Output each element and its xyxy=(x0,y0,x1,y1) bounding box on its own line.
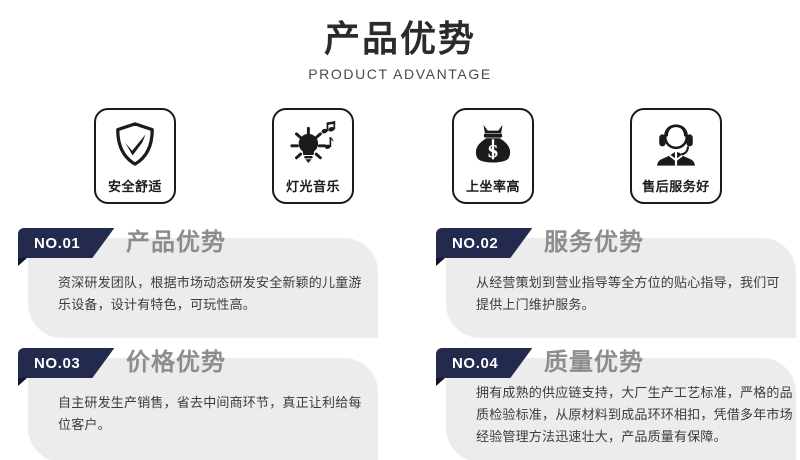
advantage-title: 质量优势 xyxy=(544,348,644,378)
money-bag-icon: S xyxy=(468,119,518,169)
advantage-body: 拥有成熟的供应链支持，大厂生产工艺标准，严格的品质检验标准，从原材料到成品环环相… xyxy=(476,382,796,448)
badge-ribbon-tail xyxy=(436,378,445,386)
badge-ribbon-tail xyxy=(436,258,445,266)
shield-check-icon xyxy=(110,119,160,169)
page-title: 产品优势 xyxy=(0,18,800,60)
advantage-body: 自主研发生产销售，省去中间商环节，真正让利给每位客户。 xyxy=(58,392,368,436)
advantage-body: 从经营策划到营业指导等全方位的贴心指导，我们可提供上门维护服务。 xyxy=(476,272,786,316)
badge-ribbon-tail xyxy=(18,378,27,386)
feature-label: 售后服务好 xyxy=(642,176,710,195)
feature-label: 安全舒适 xyxy=(108,176,162,195)
feature-card-lighting-music[interactable]: 灯光音乐 xyxy=(272,108,354,204)
product-advantage-page: 产品优势 PRODUCT ADVANTAGE 安全舒适 xyxy=(0,0,800,460)
advantage-title: 服务优势 xyxy=(544,228,644,258)
feature-label: 上坐率高 xyxy=(466,176,520,195)
feature-icon-row: 安全舒适 xyxy=(0,108,800,208)
lightbulb-music-icon xyxy=(288,119,338,169)
badge-ribbon-tail xyxy=(18,258,27,266)
page-header: 产品优势 PRODUCT ADVANTAGE xyxy=(0,18,800,84)
headset-support-icon xyxy=(651,119,701,169)
advantage-title: 价格优势 xyxy=(126,348,226,378)
page-subtitle: PRODUCT ADVANTAGE xyxy=(0,64,800,84)
feature-card-after-sales[interactable]: 售后服务好 xyxy=(630,108,722,204)
advantage-body: 资深研发团队，根据市场动态研发安全新颖的儿童游乐设备，设计有特色，可玩性高。 xyxy=(58,272,368,316)
advantage-title: 产品优势 xyxy=(126,228,226,258)
feature-card-safety[interactable]: 安全舒适 xyxy=(94,108,176,204)
feature-label: 灯光音乐 xyxy=(286,176,340,195)
feature-card-occupancy[interactable]: S 上坐率高 xyxy=(452,108,534,204)
